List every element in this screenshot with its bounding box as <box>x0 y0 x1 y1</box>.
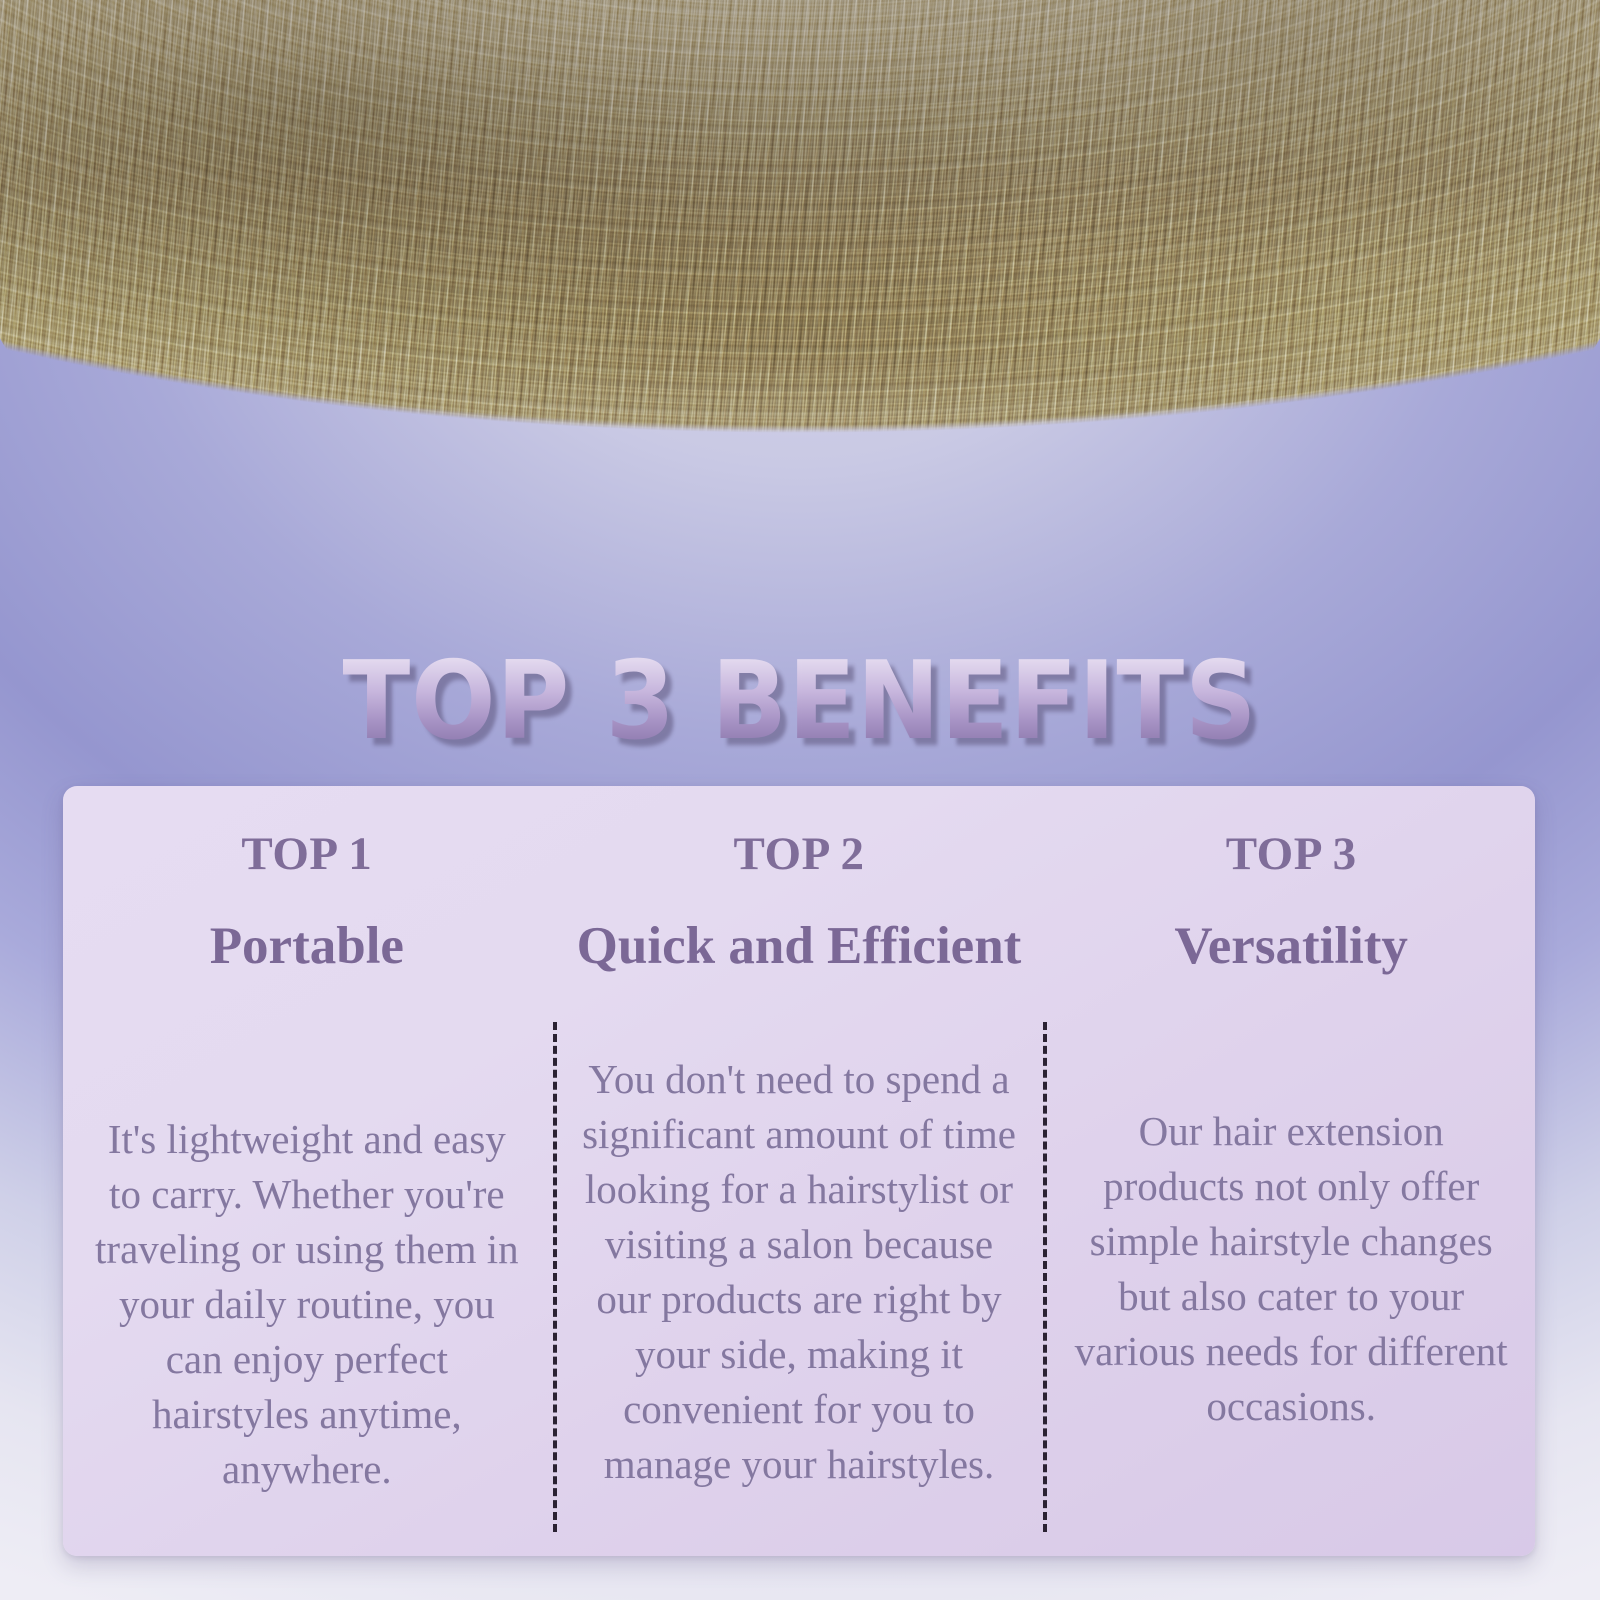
benefit-1-rank-label: TOP 1 <box>241 828 372 881</box>
hair-shading <box>0 0 1600 670</box>
benefits-card: TOP 1 Portable It's lightweight and easy… <box>63 786 1535 1556</box>
poster-canvas: TOP 3 BENEFITS TOP 3 BENEFITS TOP 1 Port… <box>0 0 1600 1600</box>
benefit-column-2: TOP 2 Quick and Efficient You don't need… <box>551 786 1048 1556</box>
benefit-3-title: Versatility <box>1174 917 1408 975</box>
benefit-3-rank-label: TOP 3 <box>1226 828 1357 881</box>
page-title: TOP 3 BENEFITS TOP 3 BENEFITS <box>64 648 1536 756</box>
benefit-2-body: You don't need to spend a significant am… <box>579 1052 1019 1492</box>
benefit-3-header: TOP 3 Versatility <box>1174 828 1408 1008</box>
benefit-3-body: Our hair extension products not only off… <box>1073 1104 1509 1434</box>
column-divider-1 <box>553 1022 557 1532</box>
benefits-columns: TOP 1 Portable It's lightweight and easy… <box>63 786 1535 1556</box>
benefit-1-header: TOP 1 Portable <box>210 828 404 1008</box>
column-divider-2 <box>1043 1022 1047 1532</box>
page-title-text: TOP 3 BENEFITS <box>342 639 1257 764</box>
benefit-2-header: TOP 2 Quick and Efficient <box>577 828 1022 1008</box>
hair-extension-photo <box>0 0 1600 670</box>
benefit-2-title: Quick and Efficient <box>577 917 1022 975</box>
benefit-2-rank-label: TOP 2 <box>734 828 865 881</box>
benefit-column-3: TOP 3 Versatility Our hair extension pro… <box>1047 786 1535 1556</box>
benefit-1-title: Portable <box>210 917 404 975</box>
benefit-1-body: It's lightweight and easy to carry. Whet… <box>89 1112 525 1497</box>
benefit-column-1: TOP 1 Portable It's lightweight and easy… <box>63 786 551 1556</box>
